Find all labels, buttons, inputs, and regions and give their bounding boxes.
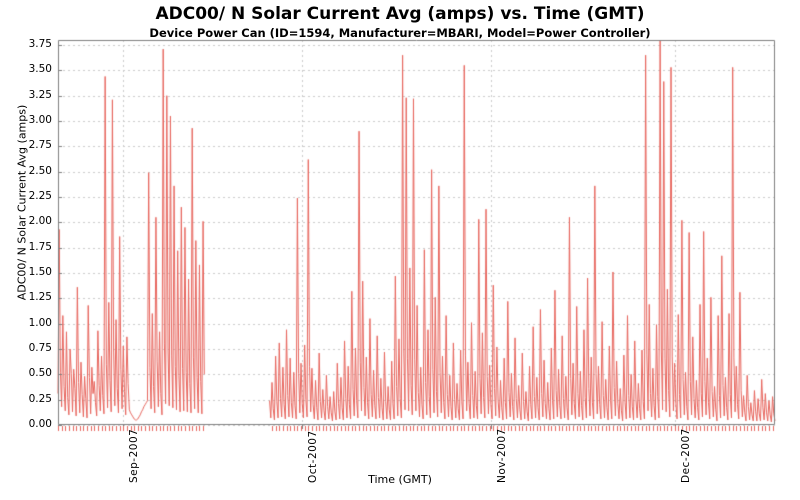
y-tick-label: 0.50 — [8, 367, 52, 379]
y-tick-label: 0.75 — [8, 342, 52, 354]
y-tick-label: 3.75 — [8, 38, 52, 50]
chart-figure: ADC00/ N Solar Current Avg (amps) vs. Ti… — [0, 0, 800, 500]
y-tick-label: 3.25 — [8, 89, 52, 101]
y-tick-label: 3.50 — [8, 63, 52, 75]
y-tick-label: 1.50 — [8, 266, 52, 278]
y-tick-label: 0.25 — [8, 393, 52, 405]
y-tick-label: 3.00 — [8, 114, 52, 126]
y-tick-label: 2.25 — [8, 190, 52, 202]
x-tick-label: Nov-2007 — [496, 428, 508, 483]
y-tick-label: 1.75 — [8, 241, 52, 253]
y-tick-label: 2.00 — [8, 215, 52, 227]
y-tick-label: 2.75 — [8, 139, 52, 151]
chart-plot-canvas — [0, 0, 800, 500]
x-tick-label: Sep-2007 — [128, 429, 140, 483]
y-tick-label: 1.00 — [8, 317, 52, 329]
y-tick-label: 1.25 — [8, 291, 52, 303]
y-tick-label: 2.50 — [8, 165, 52, 177]
y-tick-label: 0.00 — [8, 418, 52, 430]
x-tick-label: Oct-2007 — [307, 430, 319, 483]
x-tick-label: Dec-2007 — [680, 428, 692, 483]
